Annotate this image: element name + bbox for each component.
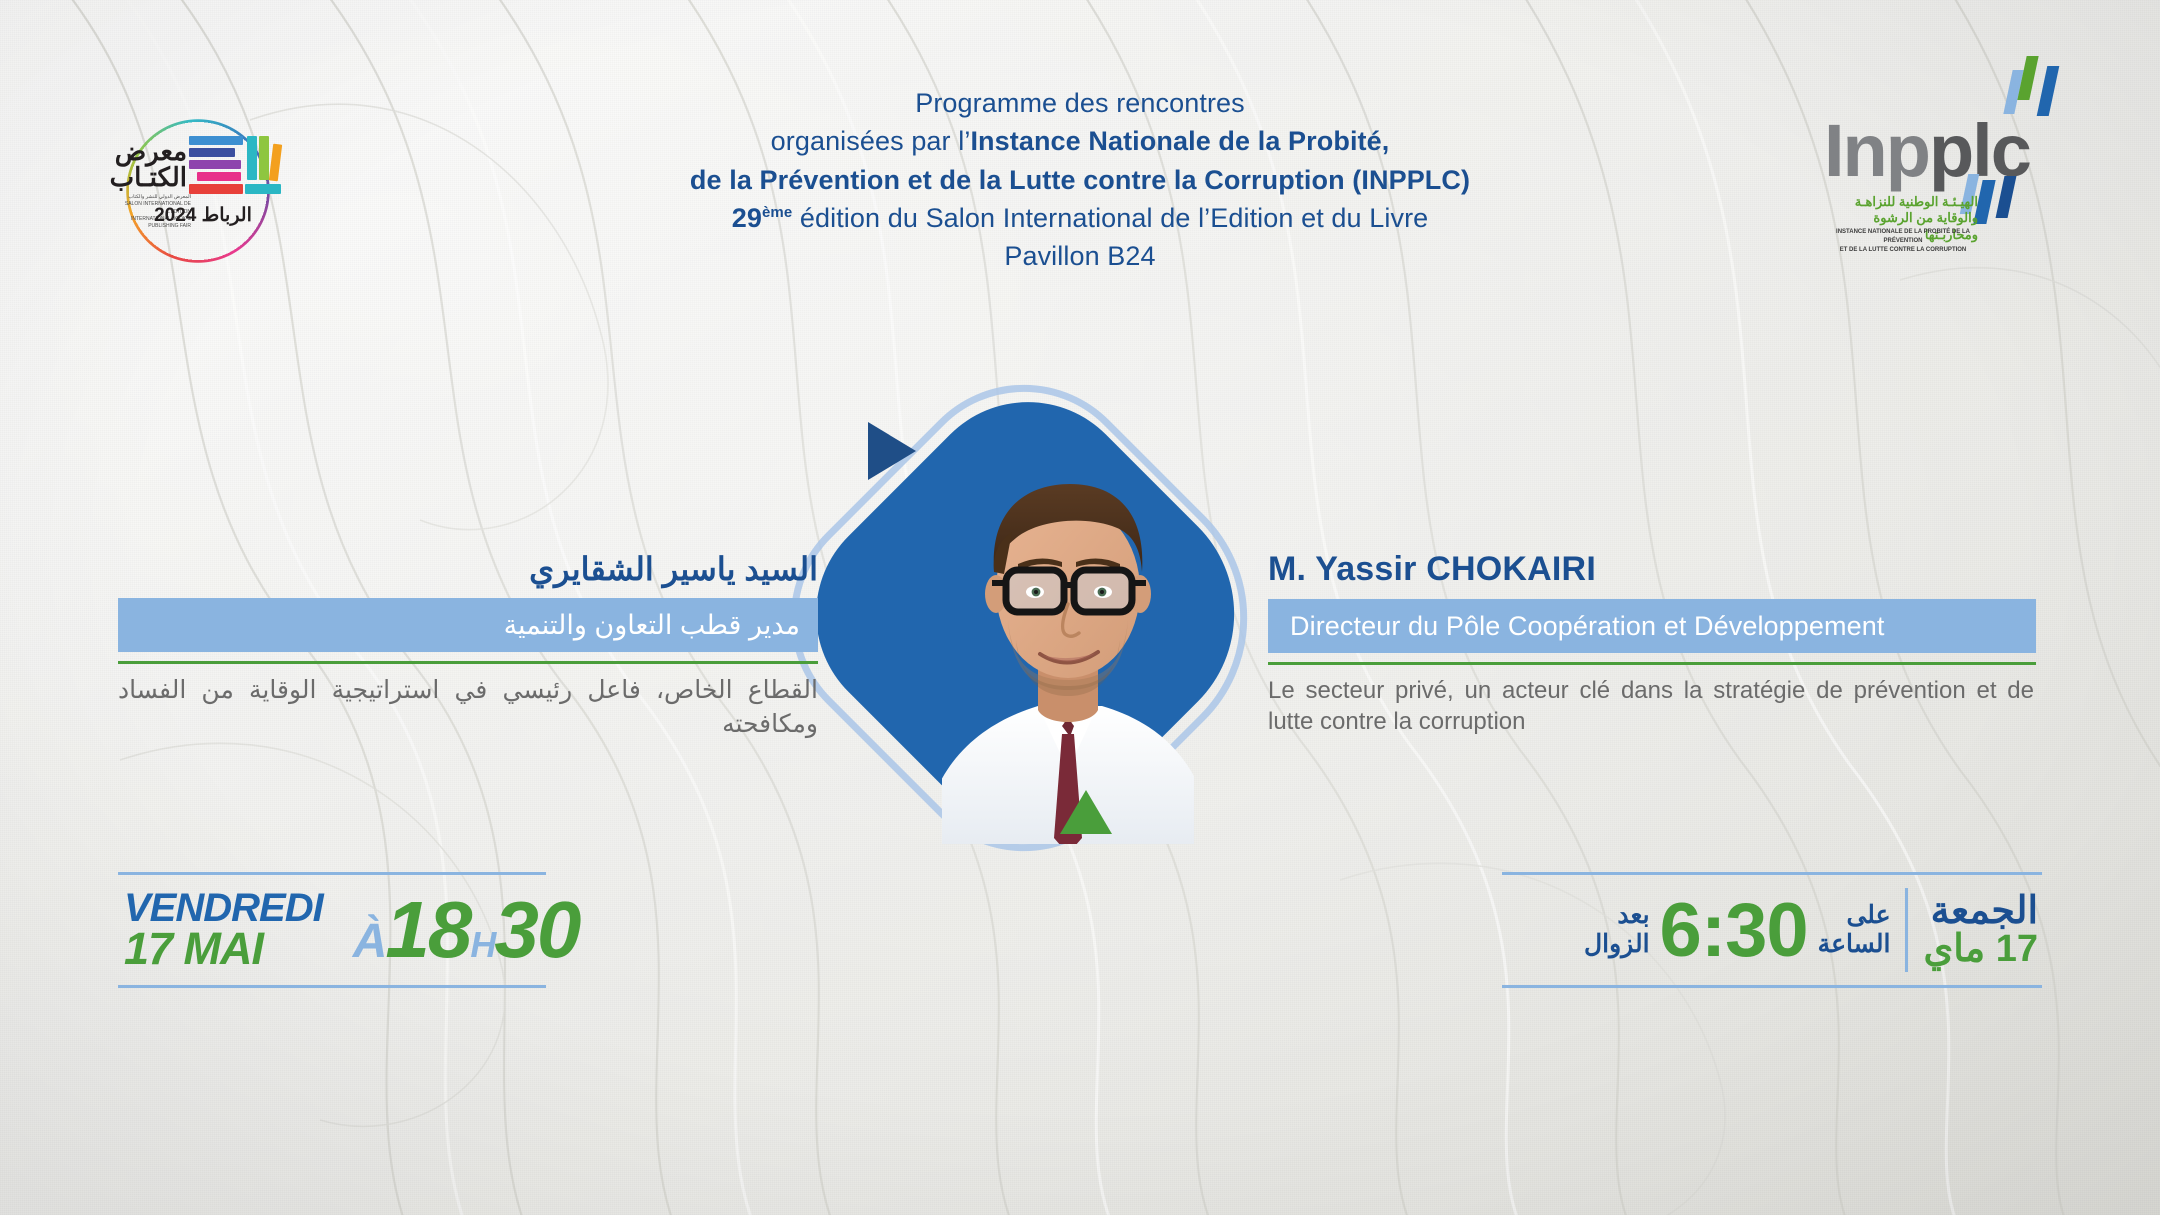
green-rule-ar xyxy=(118,661,818,664)
time-hour-fr: 18 xyxy=(385,884,470,976)
header-line-3-bold: de la Prévention et de la Lutte contre l… xyxy=(690,165,1470,195)
time-minute-fr: 30 xyxy=(494,884,579,976)
time-at-line-1-ar: على xyxy=(1818,901,1891,930)
time-clock-ar: 6:30 xyxy=(1660,887,1808,974)
header-edition-number: 29 xyxy=(732,203,762,233)
header-line-2: organisées par l’Instance Nationale de l… xyxy=(640,122,1520,160)
inpplc-french-name: INSTANCE NATIONALE DE LA PROBITÉ DE LA P… xyxy=(1828,228,1978,255)
event-poster: Programme des rencontres organisées par … xyxy=(0,0,2160,1215)
speaker-topic-fr: Le secteur privé, un acteur clé dans la … xyxy=(1268,675,2036,737)
inpplc-arabic-line-1: الهيـئـة الوطنية للنزاهـة xyxy=(1828,194,1978,210)
time-period-line-2-ar: الزوال xyxy=(1584,930,1650,959)
header-program-text: Programme des rencontres organisées par … xyxy=(640,84,1520,276)
datetime-block-arabic: الجمعة 17 ماي على الساعة 6:30 بعد الزوال xyxy=(1502,872,2042,988)
fair-year-label: الرباط 2024 xyxy=(133,204,273,227)
weekday-ar: الجمعة xyxy=(1923,892,2038,930)
fair-arabic-line-2: الكتـاب xyxy=(110,162,187,193)
speaker-title-fr: Directeur du Pôle Coopération et Dévelop… xyxy=(1290,611,1884,642)
speaker-name-ar: السيد ياسير الشقايري xyxy=(118,550,818,588)
speaker-portrait-composition xyxy=(838,432,1258,862)
time-h-marker-fr: H xyxy=(470,924,494,966)
book-fair-logo-inner: معرض الكتـاب المعرض الدولي للنشر والكتاب… xyxy=(113,134,283,252)
header-line-3: de la Prévention et de la Lutte contre l… xyxy=(640,161,1520,199)
inpplc-french-line-1: INSTANCE NATIONALE DE LA PROBITÉ DE LA P… xyxy=(1828,228,1978,246)
inpplc-french-line-2: ET DE LA LUTTE CONTRE LA CORRUPTION xyxy=(1828,246,1978,255)
header-line-1: Programme des rencontres xyxy=(640,84,1520,122)
speaker-title-bar-ar: مدير قطب التعاون والتنمية xyxy=(118,598,818,652)
inpplc-logo: Inpplc الهيـئـة الوطنية للنزاهـة والوقاي… xyxy=(1812,52,2112,242)
dark-blue-triangle-icon xyxy=(868,422,916,480)
header-line-4: 29ème édition du Salon International de … xyxy=(640,199,1520,237)
time-at-line-2-ar: الساعة xyxy=(1818,930,1891,959)
speaker-photo xyxy=(942,414,1194,844)
speaker-block-arabic: السيد ياسير الشقايري مدير قطب التعاون وا… xyxy=(118,550,818,742)
header-edition-suffix: ème xyxy=(762,204,792,221)
speaker-name-fr: M. Yassir CHOKAIRI xyxy=(1268,550,2036,589)
time-period-arabic: بعد الزوال xyxy=(1584,901,1650,959)
time-preposition-arabic: على الساعة xyxy=(1818,901,1891,959)
speaker-topic-ar: القطاع الخاص، فاعل رئيسي في استراتيجية ا… xyxy=(118,674,818,742)
header-pavilion: Pavillon B24 xyxy=(640,237,1520,275)
time-preposition-fr: À xyxy=(353,914,386,969)
datetime-separator-ar xyxy=(1905,888,1908,972)
date-fr: 17 MAI xyxy=(124,928,323,970)
books-icon xyxy=(189,136,279,198)
speaker-title-ar: مدير قطب التعاون والتنمية xyxy=(504,610,800,641)
book-fair-logo: معرض الكتـاب المعرض الدولي للنشر والكتاب… xyxy=(103,96,293,286)
time-french: À 18 H 30 xyxy=(353,884,580,976)
speaker-block-french: M. Yassir CHOKAIRI Directeur du Pôle Coo… xyxy=(1268,550,2036,737)
time-period-line-1-ar: بعد xyxy=(1584,901,1650,930)
green-rule-fr xyxy=(1268,662,2036,665)
speaker-title-bar-fr: Directeur du Pôle Coopération et Dévelop… xyxy=(1268,599,2036,653)
header-line-2-bold: Instance Nationale de la Probité, xyxy=(970,126,1389,156)
datetime-block-french: VENDREDI 17 MAI À 18 H 30 xyxy=(118,872,546,988)
date-french: VENDREDI 17 MAI xyxy=(118,890,323,969)
header-line-4-rest: édition du Salon International de l’Edit… xyxy=(792,203,1428,233)
date-ar: 17 ماي xyxy=(1923,930,2038,968)
date-arabic: الجمعة 17 ماي xyxy=(1923,892,2042,968)
green-triangle-icon xyxy=(1060,790,1112,834)
header-line-2-prefix: organisées par l’ xyxy=(771,126,971,156)
inpplc-wordmark-light: Inp xyxy=(1824,109,1929,192)
